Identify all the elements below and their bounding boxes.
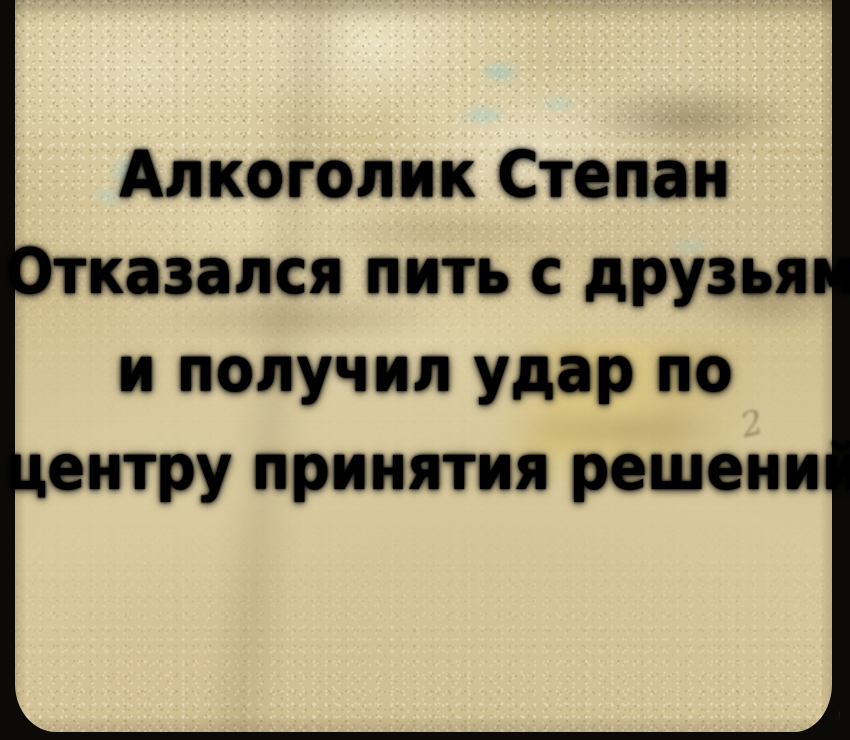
caption-line-1: Алкоголик Степан (6, 120, 844, 230)
caption-line-2: Отказался пить с друзьями (6, 218, 844, 328)
card-corner-bottom-right (804, 694, 850, 740)
meme-card: 2 Алкоголик Степан Отказался пить с друз… (0, 0, 850, 740)
card-corner-bottom-left (0, 694, 46, 740)
caption-line-4: центру принятия решений. (6, 414, 844, 524)
caption-line-3: и получил удар по (6, 316, 844, 426)
caption-block: Алкоголик Степан Отказался пить с друзья… (0, 126, 850, 518)
